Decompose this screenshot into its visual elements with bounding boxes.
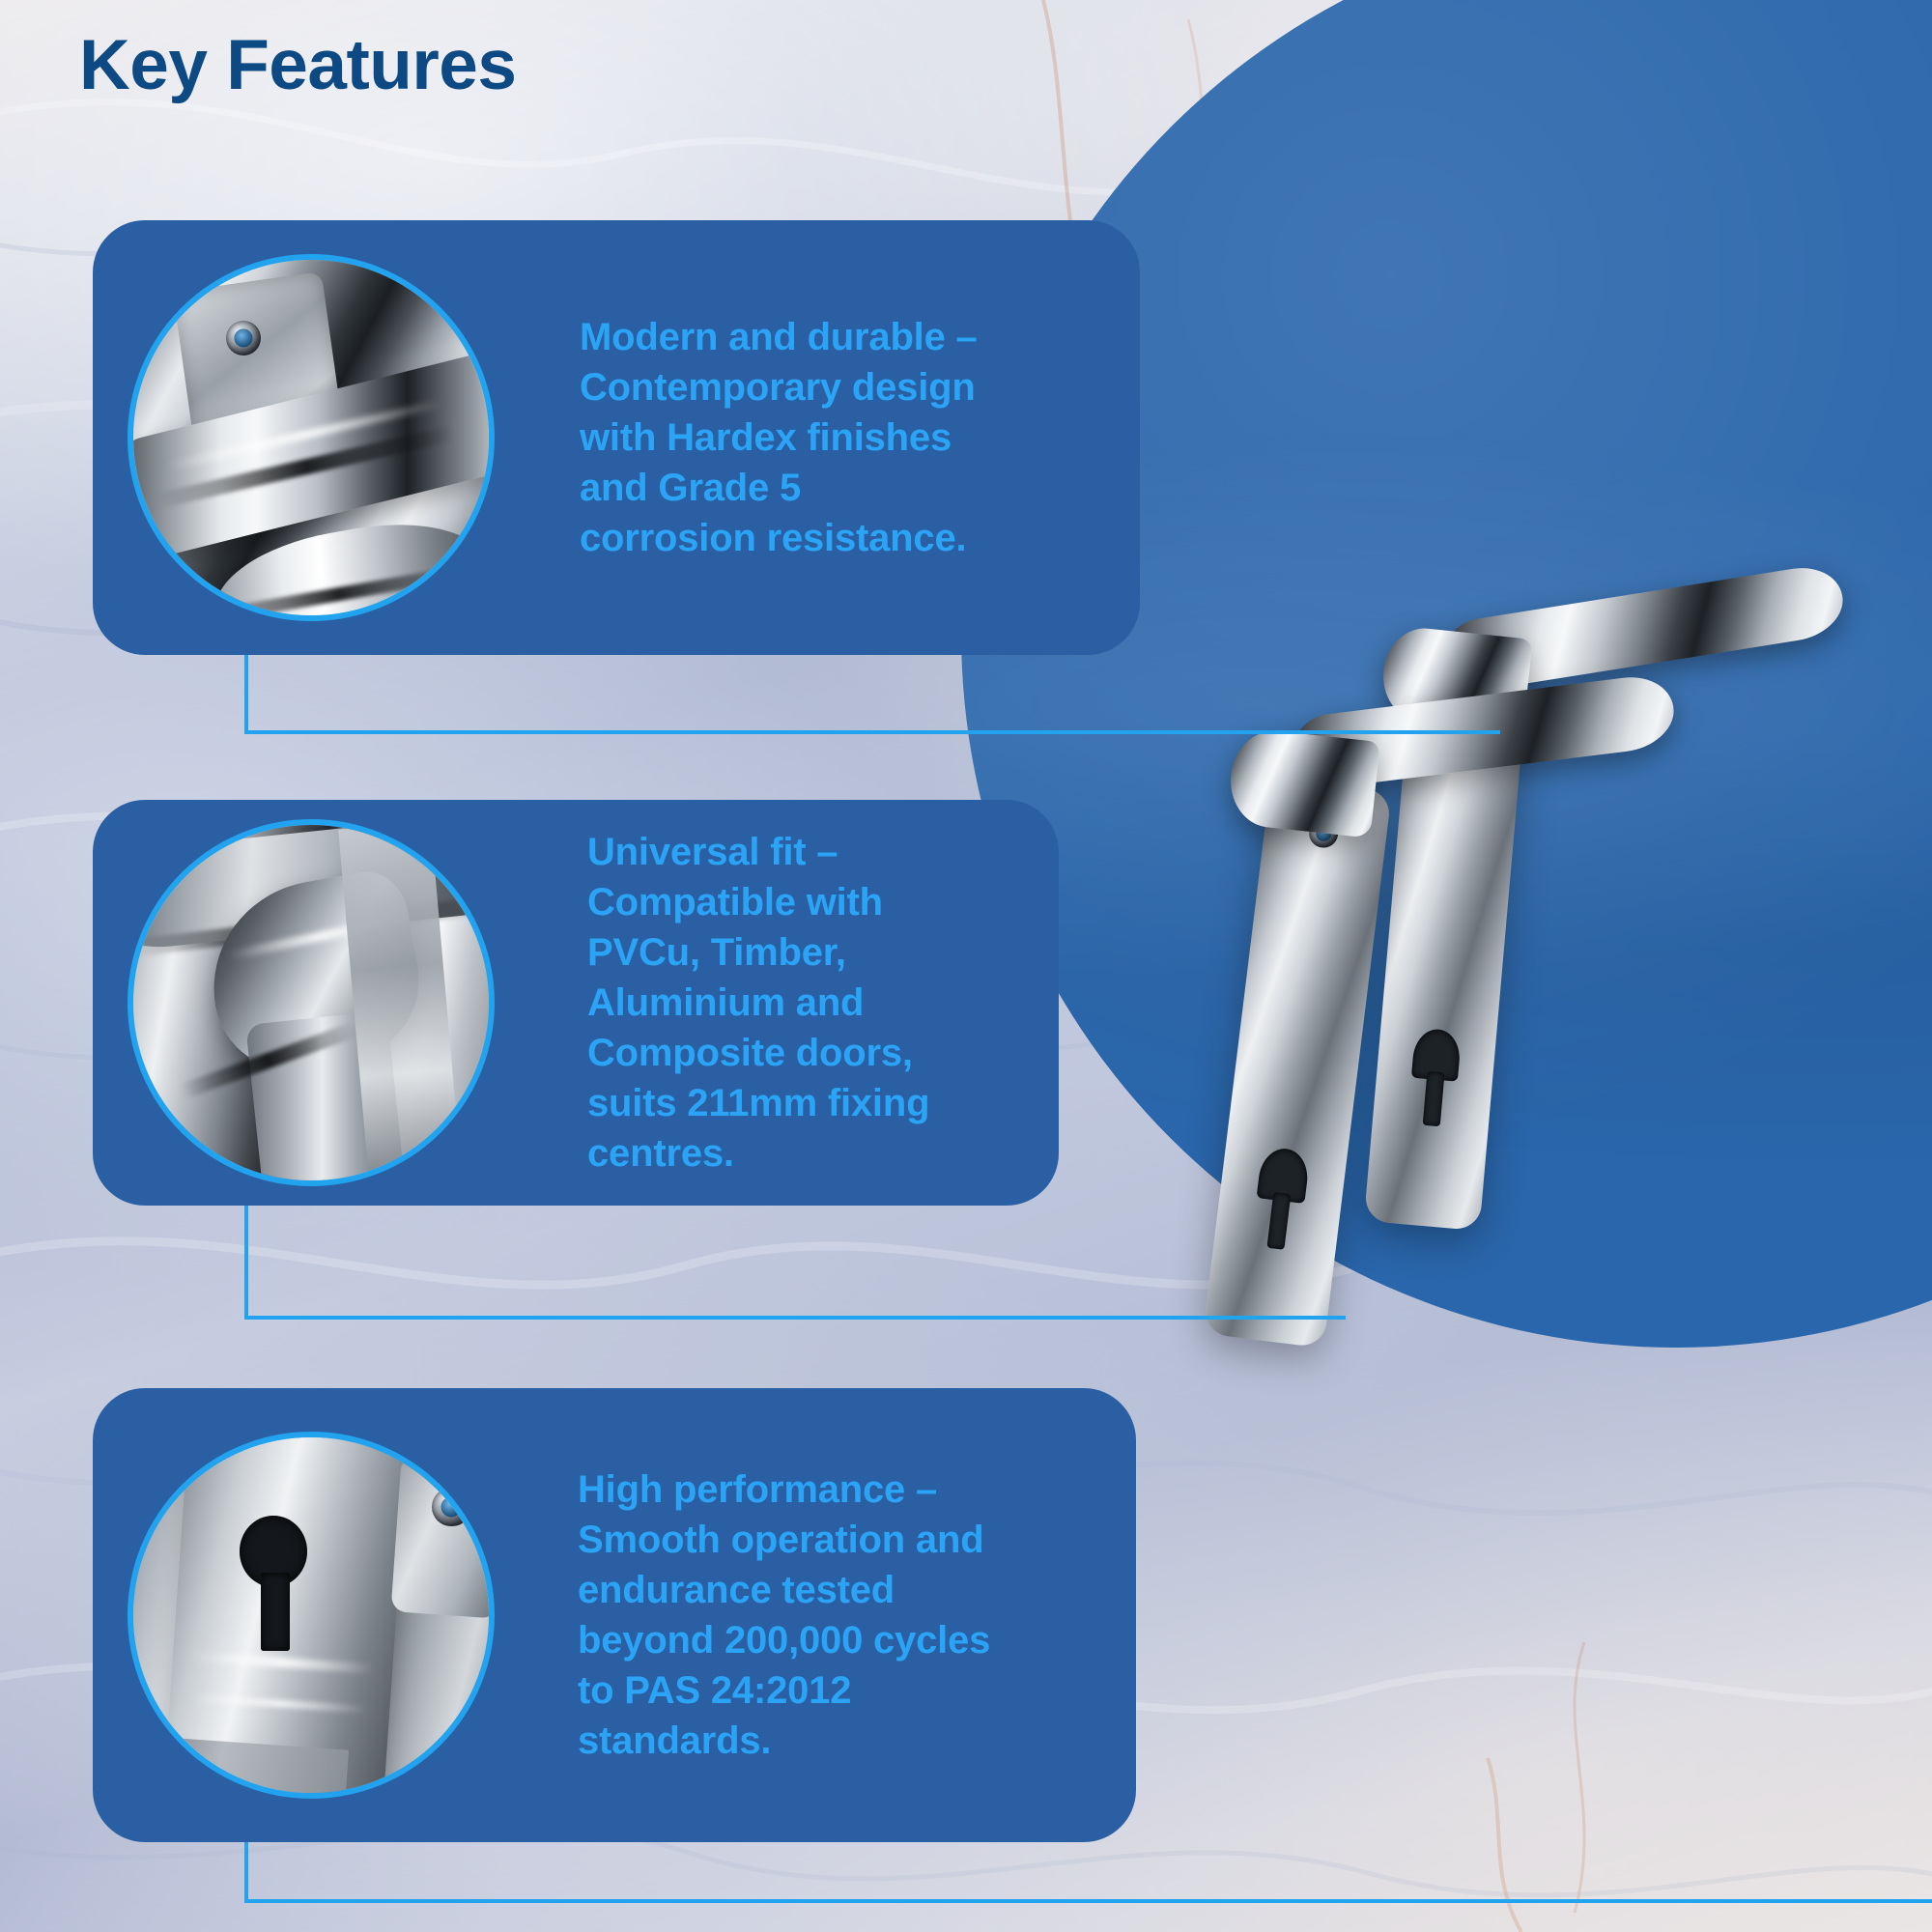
feature-photo-high-performance	[128, 1432, 495, 1799]
handle-lever-joint-closeup-photo	[133, 825, 489, 1180]
feature-text-universal-fit: Universal fit – Compatible with PVCu, Ti…	[587, 827, 974, 1179]
feature-card-high-performance: High performance – Smooth operation and …	[93, 1388, 1136, 1842]
feature-photo-modern-durable	[128, 254, 495, 621]
hero-product-image	[1294, 589, 1893, 1410]
page-title: Key Features	[79, 23, 517, 108]
handle-backplate-closeup-photo	[133, 260, 489, 615]
handle-keyhole-closeup-photo	[133, 1437, 489, 1793]
feature-card-universal-fit: Universal fit – Compatible with PVCu, Ti…	[93, 800, 1059, 1206]
feature-card-modern-durable: Modern and durable – Contemporary design…	[93, 220, 1140, 655]
feature-text-high-performance: High performance – Smooth operation and …	[578, 1464, 993, 1766]
feature-photo-universal-fit	[128, 819, 495, 1186]
feature-text-modern-durable: Modern and durable – Contemporary design…	[580, 312, 985, 563]
